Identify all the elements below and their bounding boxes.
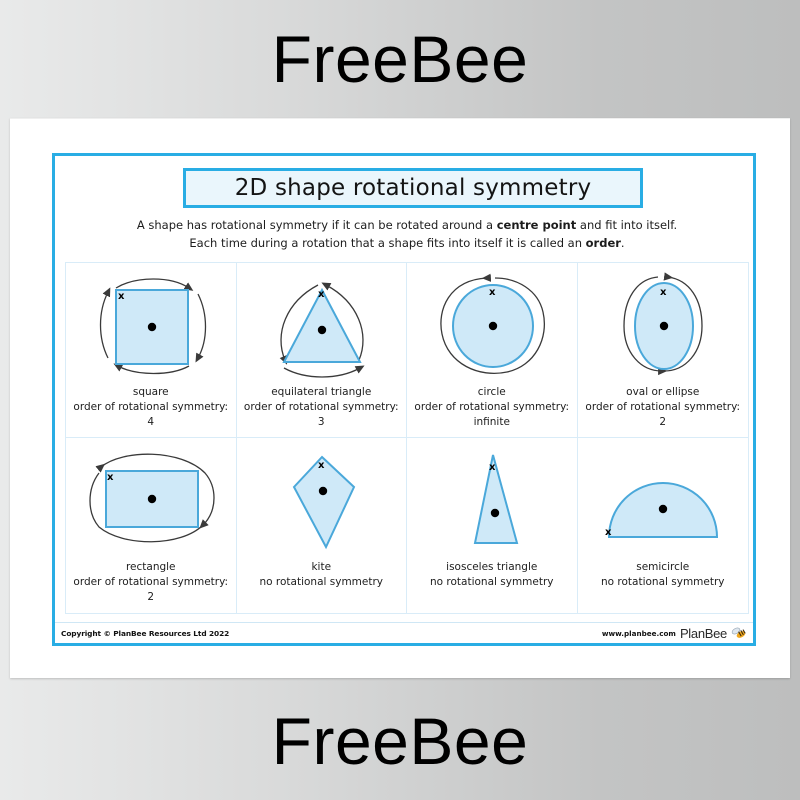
svg-text:x: x [318,460,325,471]
planbee-brand: www.planbee.com PlanBee [602,626,747,641]
planbee-wordmark: PlanBee [680,626,727,641]
isosceles-triangle-diagram: x [417,443,567,559]
shape-caption-line2: order of rotational symmetry: [73,575,228,590]
shape-caption-line3: 4 [147,415,154,430]
intro-text: A shape has rotational symmetry if it ca… [75,216,739,252]
shape-caption-line1: circle [478,385,506,400]
shape-caption-line2: order of rotational symmetry: [73,400,228,415]
shape-caption-line1: isosceles triangle [446,560,537,575]
rectangle-diagram: x [73,443,229,559]
shape-caption-line1: kite [311,560,331,575]
kite-figure: x [237,442,407,560]
shape-caption-line2: order of rotational symmetry: [585,400,740,415]
intro-line-1-b: and fit into itself. [576,218,677,232]
shape-cell-isosceles-triangle: x isosceles triangle no rotational symme… [407,438,578,613]
svg-text:x: x [107,472,114,483]
svg-text:x: x [118,291,125,302]
shape-cell-circle: x circle order of rotational symmetry: i… [407,263,578,438]
intro-line-1: A shape has rotational symmetry if it ca… [75,216,739,234]
kite-diagram: x [246,443,396,559]
square-figure: x [66,267,236,385]
shape-cell-square: x square order of rotational symmetry: 4 [66,263,237,438]
shape-cell-oval: x oval or ellipse order of rotational sy… [578,263,749,438]
planbee-url: www.planbee.com [602,629,676,638]
svg-text:x: x [605,527,612,538]
equilateral-triangle-figure: x [237,267,407,385]
intro-line-2-b: . [621,236,625,250]
rectangle-figure: x [66,442,236,560]
shape-cell-equilateral-triangle: x equilateral triangle order of rotation… [237,263,408,438]
shape-caption-line2: no rotational symmetry [259,575,383,590]
shape-caption-line1: oval or ellipse [626,385,699,400]
screenshot-root: FreeBee 2D shape rotational symmetry A s… [0,0,800,800]
shape-caption-line2: no rotational symmetry [430,575,554,590]
intro-line-2: Each time during a rotation that a shape… [75,234,739,252]
shape-caption-line1: semicircle [636,560,689,575]
shape-caption-line3: 3 [318,415,325,430]
svg-text:x: x [318,289,325,300]
shape-caption-line2: no rotational symmetry [601,575,725,590]
shape-caption-line1: equilateral triangle [271,385,371,400]
shape-cell-kite: x kite no rotational symmetry [237,438,408,613]
square-diagram: x [76,268,226,384]
isosceles-triangle-figure: x [407,442,577,560]
shape-cell-rectangle: x rectangle order of rotational symmetry… [66,438,237,613]
equilateral-triangle-diagram: x [246,268,396,384]
poster-footer: Copyright © PlanBee Resources Ltd 2022 w… [55,622,753,643]
shape-caption-line3: 2 [659,415,666,430]
copyright-text: Copyright © PlanBee Resources Ltd 2022 [61,629,229,638]
intro-line-2-bold: order [586,236,621,250]
shape-caption-line1: rectangle [126,560,176,575]
page-title: 2D shape rotational symmetry [235,175,592,201]
freebee-banner-bottom: FreeBee [0,682,800,800]
freebee-banner-top-label: FreeBee [272,21,529,97]
intro-line-2-a: Each time during a rotation that a shape… [189,236,585,250]
semicircle-diagram: x [585,443,741,559]
shape-caption-line3: infinite [474,415,510,430]
shapes-grid: x square order of rotational symmetry: 4 [65,262,749,614]
semicircle-figure: x [578,442,749,560]
oval-diagram: x [588,268,738,384]
shape-caption-line3: 2 [147,590,154,605]
poster-title-box: 2D shape rotational symmetry [183,168,643,208]
poster-frame: 2D shape rotational symmetry A shape has… [52,153,756,646]
circle-figure: x [407,267,577,385]
circle-diagram: x [417,268,567,384]
intro-line-1-a: A shape has rotational symmetry if it ca… [137,218,497,232]
svg-text:x: x [489,462,496,473]
freebee-banner-bottom-label: FreeBee [272,703,529,779]
shape-caption-line2: order of rotational symmetry: [244,400,399,415]
bee-icon [731,627,747,640]
shape-caption-line2: order of rotational symmetry: [414,400,569,415]
freebee-banner-top: FreeBee [0,0,800,118]
poster-page: 2D shape rotational symmetry A shape has… [10,118,790,678]
oval-figure: x [578,267,749,385]
svg-text:x: x [660,287,667,298]
intro-line-1-bold: centre point [497,218,577,232]
shape-cell-semicircle: x semicircle no rotational symmetry [578,438,749,613]
svg-text:x: x [489,287,496,298]
shape-caption-line1: square [133,385,169,400]
